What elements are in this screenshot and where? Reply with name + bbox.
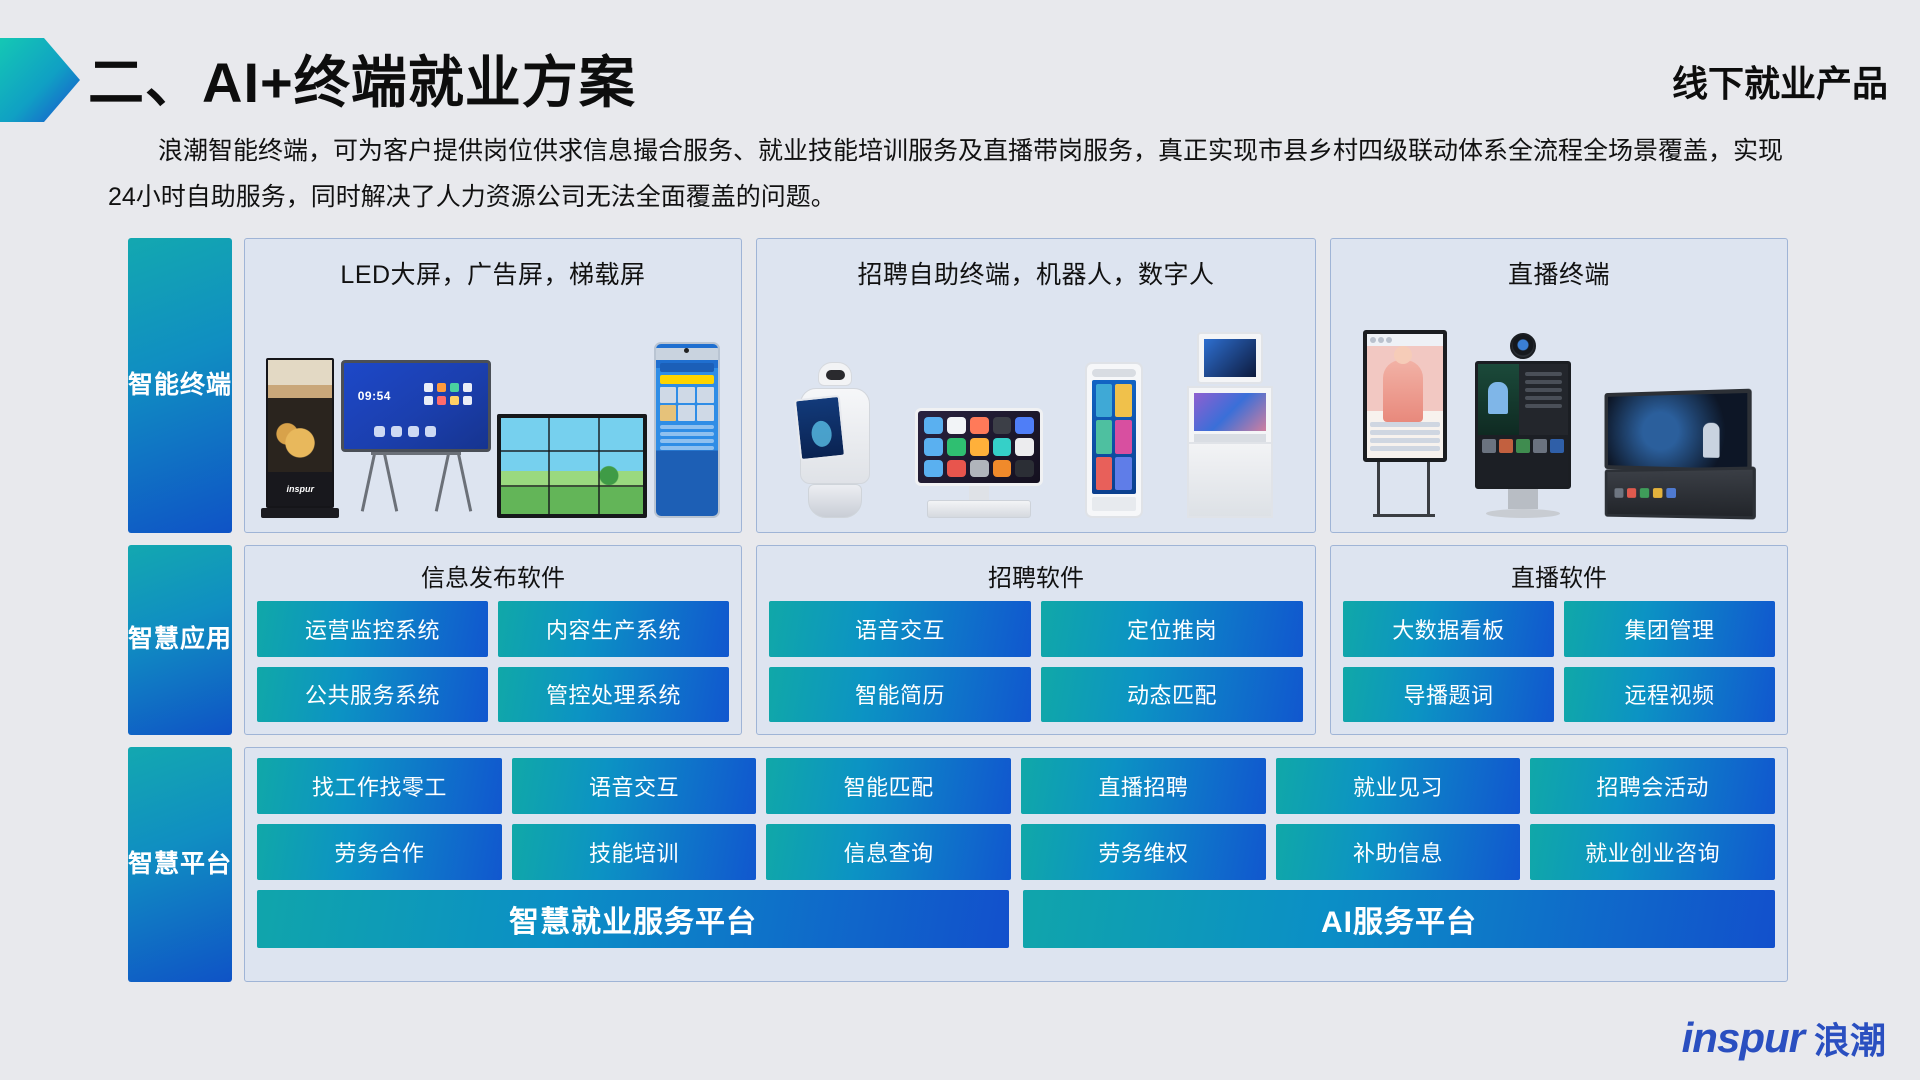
tile-recruit-2[interactable]: 定位推岗 [1041,601,1303,657]
band-terminal-body: LED大屏，广告屏，梯载屏 inspur 09:54 [244,238,1788,533]
software-group-title-publish: 信息发布软件 [257,554,729,601]
tile-recruit-4[interactable]: 动态匹配 [1041,667,1303,723]
band-label-platform: 智慧平台 [128,747,232,982]
platform-bars: 智慧就业服务平台 AI服务平台 [257,890,1775,948]
solution-diagram: 智能终端 LED大屏，广告屏，梯载屏 inspur 09:54 [128,238,1788,998]
platform-tile-r1-3[interactable]: 智能匹配 [766,758,1011,814]
digital-signage-kiosk-image: inspur [266,358,334,518]
band-terminal: 智能终端 LED大屏，广告屏，梯载屏 inspur 09:54 [128,238,1788,533]
tile-recruit-1[interactable]: 语音交互 [769,601,1031,657]
platform-tile-r2-5[interactable]: 补助信息 [1276,824,1521,880]
tile-live-1[interactable]: 大数据看板 [1343,601,1554,657]
device-row-led: inspur 09:54 [255,293,731,524]
live-streaming-terminal-image [1475,333,1571,518]
page-title: 二、AI+终端就业方案 [88,38,636,119]
band-label-terminal: 智能终端 [128,238,232,533]
panel-led-screens[interactable]: LED大屏，广告屏，梯载屏 inspur 09:54 [244,238,742,533]
platform-tile-r1-6[interactable]: 招聘会活动 [1530,758,1775,814]
software-group-recruit[interactable]: 招聘软件 语音交互 定位推岗 智能简历 动态匹配 [756,545,1316,735]
platform-tile-r1-1[interactable]: 找工作找零工 [257,758,502,814]
platform-tile-r2-4[interactable]: 劳务维权 [1021,824,1266,880]
device-row-recruit [767,293,1305,524]
tile-grid-publish: 运营监控系统 内容生产系统 公共服务系统 管控处理系统 [257,601,729,722]
tile-publish-3[interactable]: 公共服务系统 [257,667,488,723]
software-group-live[interactable]: 直播软件 大数据看板 集团管理 导播题词 远程视频 [1330,545,1788,735]
platform-bar-employment[interactable]: 智慧就业服务平台 [257,890,1009,948]
slide-root: 二、AI+终端就业方案 线下就业产品 浪潮智能终端，可为客户提供岗位供求信息撮合… [0,0,1920,1080]
panel-title-led: LED大屏，广告屏，梯载屏 [255,249,731,293]
tile-recruit-3[interactable]: 智能简历 [769,667,1031,723]
platform-tile-r1-5[interactable]: 就业见习 [1276,758,1521,814]
video-wall-image [497,414,647,518]
tile-live-4[interactable]: 远程视频 [1564,667,1775,723]
tile-publish-4[interactable]: 管控处理系统 [498,667,729,723]
tile-live-3[interactable]: 导播题词 [1343,667,1554,723]
platform-tile-row-2: 劳务合作 技能培训 信息查询 劳务维权 补助信息 就业创业咨询 [257,824,1775,880]
self-service-machine-image [1184,332,1276,518]
software-group-title-live: 直播软件 [1343,554,1775,601]
software-group-publish[interactable]: 信息发布软件 运营监控系统 内容生产系统 公共服务系统 管控处理系统 [244,545,742,735]
band-platform: 智慧平台 找工作找零工 语音交互 智能匹配 直播招聘 就业见习 招聘会活动 劳务… [128,747,1788,982]
platform-panel[interactable]: 找工作找零工 语音交互 智能匹配 直播招聘 就业见习 招聘会活动 劳务合作 技能… [244,747,1788,982]
platform-tile-r2-1[interactable]: 劳务合作 [257,824,502,880]
inspur-logo: inspur 浪潮 [1682,1012,1886,1064]
panel-live-terminals[interactable]: 直播终端 [1330,238,1788,533]
service-robot-image [796,362,874,518]
panel-title-recruit: 招聘自助终端，机器人，数字人 [767,249,1305,293]
platform-tile-r1-2[interactable]: 语音交互 [512,758,757,814]
band-label-application: 智慧应用 [128,545,232,735]
band-application-body: 信息发布软件 运营监控系统 内容生产系统 公共服务系统 管控处理系统 招聘软件 … [244,545,1788,735]
portable-live-case-image [1599,391,1755,518]
platform-tile-r2-2[interactable]: 技能培训 [512,824,757,880]
panel-recruit-terminals[interactable]: 招聘自助终端，机器人，数字人 [756,238,1316,533]
live-display-stand-image [1363,330,1447,518]
header-right-label: 线下就业产品 [1672,55,1888,107]
platform-tile-r2-3[interactable]: 信息查询 [766,824,1011,880]
software-group-title-recruit: 招聘软件 [769,554,1303,601]
band-application: 智慧应用 信息发布软件 运营监控系统 内容生产系统 公共服务系统 管控处理系统 … [128,545,1788,735]
elevator-screen-image [654,342,720,518]
panel-title-live: 直播终端 [1341,249,1777,293]
logo-wordmark: inspur [1682,1014,1804,1062]
tile-grid-live: 大数据看板 集团管理 导播题词 远程视频 [1343,601,1775,722]
header-arrow-icon [0,38,80,122]
platform-bar-ai[interactable]: AI服务平台 [1023,890,1775,948]
platform-tile-r1-4[interactable]: 直播招聘 [1021,758,1266,814]
tile-publish-1[interactable]: 运营监控系统 [257,601,488,657]
interactive-whiteboard-image: 09:54 [341,360,491,518]
tile-publish-2[interactable]: 内容生产系统 [498,601,729,657]
platform-tile-r2-6[interactable]: 就业创业咨询 [1530,824,1775,880]
intro-paragraph: 浪潮智能终端，可为客户提供岗位供求信息撮合服务、就业技能培训服务及直播带岗服务，… [108,128,1808,221]
vertical-kiosk-image [1085,362,1143,518]
platform-tile-row-1: 找工作找零工 语音交互 智能匹配 直播招聘 就业见习 招聘会活动 [257,758,1775,814]
intro-text: 浪潮智能终端，可为客户提供岗位供求信息撮合服务、就业技能培训服务及直播带岗服务，… [108,128,1808,221]
desktop-tablet-terminal-image [915,408,1043,518]
logo-chinese-name: 浪潮 [1814,1012,1886,1064]
tile-live-2[interactable]: 集团管理 [1564,601,1775,657]
tile-grid-recruit: 语音交互 定位推岗 智能简历 动态匹配 [769,601,1303,722]
device-row-live [1341,293,1777,524]
